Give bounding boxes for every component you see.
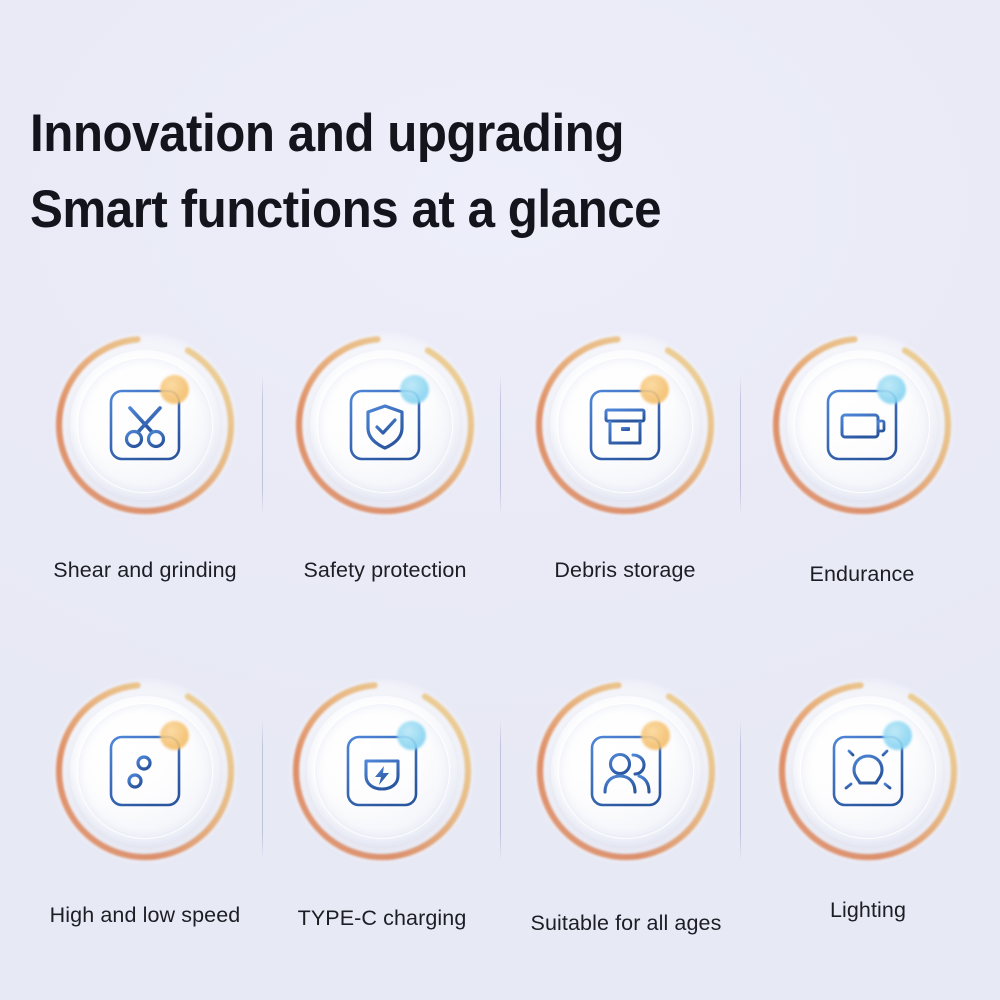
accent-dot-orange — [641, 721, 670, 750]
feature-badge[interactable] — [289, 678, 475, 864]
feature-item[interactable] — [748, 678, 988, 864]
accent-dot-blue — [883, 721, 912, 750]
accent-dot-blue — [400, 375, 429, 404]
feature-badge[interactable] — [52, 678, 238, 864]
feature-badge[interactable] — [775, 678, 961, 864]
column-divider — [262, 720, 263, 860]
feature-badge[interactable] — [532, 332, 718, 518]
feature-item[interactable] — [262, 678, 502, 864]
accent-dot-orange — [160, 375, 189, 404]
feature-item[interactable] — [25, 678, 265, 864]
feature-label: Endurance — [742, 562, 982, 587]
feature-item[interactable] — [506, 678, 746, 864]
column-divider — [740, 375, 741, 515]
feature-label: Lighting — [748, 898, 988, 923]
column-divider — [262, 375, 263, 515]
feature-label: Suitable for all ages — [506, 911, 746, 936]
accent-dot-orange — [160, 721, 189, 750]
feature-label: Shear and grinding — [25, 558, 265, 583]
column-divider — [500, 720, 501, 860]
feature-badge[interactable] — [769, 332, 955, 518]
column-divider — [740, 720, 741, 860]
feature-item[interactable] — [25, 332, 265, 518]
infographic-page: Innovation and upgrading Smart functions… — [0, 0, 1000, 1000]
accent-dot-blue — [397, 721, 426, 750]
column-divider — [500, 375, 501, 515]
feature-badge[interactable] — [533, 678, 719, 864]
accent-dot-orange — [640, 375, 669, 404]
feature-label: High and low speed — [25, 903, 265, 928]
feature-item[interactable] — [742, 332, 982, 518]
accent-dot-blue — [877, 375, 906, 404]
feature-item[interactable] — [505, 332, 745, 518]
feature-label: Safety protection — [265, 558, 505, 583]
feature-label: Debris storage — [505, 558, 745, 583]
feature-label: TYPE-C charging — [262, 906, 502, 931]
feature-badge[interactable] — [52, 332, 238, 518]
feature-badge[interactable] — [292, 332, 478, 518]
feature-grid: Shear and grindingSafety protectionDebri… — [0, 0, 1000, 1000]
feature-item[interactable] — [265, 332, 505, 518]
